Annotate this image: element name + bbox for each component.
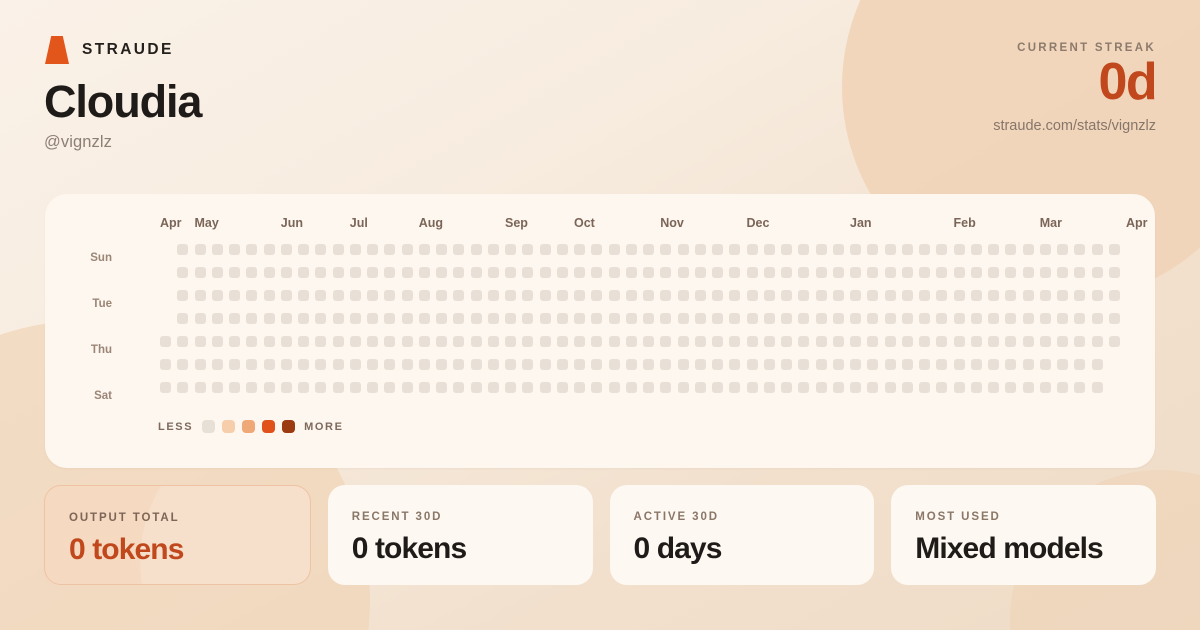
- heatmap-cell[interactable]: [419, 359, 430, 370]
- heatmap-cell[interactable]: [229, 359, 240, 370]
- heatmap-cell[interactable]: [954, 313, 965, 324]
- heatmap-cell[interactable]: [781, 290, 792, 301]
- heatmap-cell[interactable]: [574, 359, 585, 370]
- heatmap-cell[interactable]: [264, 336, 275, 347]
- heatmap-cell[interactable]: [781, 336, 792, 347]
- heatmap-cell[interactable]: [867, 382, 878, 393]
- heatmap-cell[interactable]: [402, 336, 413, 347]
- heatmap-cell[interactable]: [988, 244, 999, 255]
- heatmap-cell[interactable]: [712, 313, 723, 324]
- heatmap-cell[interactable]: [315, 267, 326, 278]
- heatmap-cell[interactable]: [436, 336, 447, 347]
- heatmap-cell[interactable]: [954, 336, 965, 347]
- heatmap-cell[interactable]: [678, 244, 689, 255]
- heatmap-cell[interactable]: [591, 244, 602, 255]
- heatmap-cell[interactable]: [471, 359, 482, 370]
- heatmap-cell[interactable]: [798, 267, 809, 278]
- heatmap-cell[interactable]: [954, 267, 965, 278]
- heatmap-cell[interactable]: [626, 313, 637, 324]
- heatmap-cell[interactable]: [626, 382, 637, 393]
- heatmap-cell[interactable]: [315, 382, 326, 393]
- heatmap-cell[interactable]: [1074, 382, 1085, 393]
- heatmap-cell[interactable]: [712, 359, 723, 370]
- heatmap-cell[interactable]: [609, 290, 620, 301]
- heatmap-cell[interactable]: [833, 382, 844, 393]
- heatmap-cell[interactable]: [729, 313, 740, 324]
- heatmap-cell[interactable]: [298, 267, 309, 278]
- heatmap-cell[interactable]: [798, 313, 809, 324]
- heatmap-cell[interactable]: [557, 244, 568, 255]
- heatmap-cell[interactable]: [936, 359, 947, 370]
- heatmap-cell[interactable]: [315, 359, 326, 370]
- heatmap-cell[interactable]: [954, 290, 965, 301]
- heatmap-cell[interactable]: [1109, 336, 1120, 347]
- heatmap-cell[interactable]: [488, 313, 499, 324]
- heatmap-cell[interactable]: [591, 313, 602, 324]
- heatmap-cell[interactable]: [229, 313, 240, 324]
- heatmap-cell[interactable]: [229, 382, 240, 393]
- heatmap-cell[interactable]: [246, 313, 257, 324]
- heatmap-cell[interactable]: [678, 336, 689, 347]
- heatmap-cell[interactable]: [1074, 313, 1085, 324]
- heatmap-cell[interactable]: [212, 336, 223, 347]
- heatmap-cell[interactable]: [177, 336, 188, 347]
- heatmap-cell[interactable]: [246, 290, 257, 301]
- heatmap-cell[interactable]: [315, 313, 326, 324]
- heatmap-cell[interactable]: [643, 290, 654, 301]
- heatmap-cell[interactable]: [643, 244, 654, 255]
- heatmap-cell[interactable]: [522, 290, 533, 301]
- heatmap-cell[interactable]: [781, 244, 792, 255]
- heatmap-cell[interactable]: [471, 244, 482, 255]
- heatmap-cell[interactable]: [419, 313, 430, 324]
- heatmap-cell[interactable]: [816, 336, 827, 347]
- heatmap-cell[interactable]: [367, 267, 378, 278]
- heatmap-cell[interactable]: [988, 336, 999, 347]
- heatmap-cell[interactable]: [557, 313, 568, 324]
- heatmap-cell[interactable]: [298, 359, 309, 370]
- heatmap-cell[interactable]: [436, 267, 447, 278]
- heatmap-cell[interactable]: [885, 267, 896, 278]
- heatmap-cell[interactable]: [315, 244, 326, 255]
- heatmap-cell[interactable]: [816, 244, 827, 255]
- heatmap-cell[interactable]: [522, 267, 533, 278]
- heatmap-cell[interactable]: [695, 267, 706, 278]
- heatmap-cell[interactable]: [936, 313, 947, 324]
- heatmap-cell[interactable]: [1057, 313, 1068, 324]
- heatmap-cell[interactable]: [591, 336, 602, 347]
- heatmap-cell[interactable]: [1023, 267, 1034, 278]
- heatmap-cell[interactable]: [1109, 267, 1120, 278]
- heatmap-cell[interactable]: [626, 244, 637, 255]
- heatmap-cell[interactable]: [971, 382, 982, 393]
- heatmap-cell[interactable]: [1040, 313, 1051, 324]
- heatmap-cell[interactable]: [557, 267, 568, 278]
- heatmap-cell[interactable]: [695, 313, 706, 324]
- heatmap-cell[interactable]: [298, 290, 309, 301]
- heatmap-cell[interactable]: [781, 313, 792, 324]
- heatmap-cell[interactable]: [419, 244, 430, 255]
- heatmap-cell[interactable]: [177, 244, 188, 255]
- heatmap-cell[interactable]: [867, 336, 878, 347]
- heatmap-cell[interactable]: [281, 336, 292, 347]
- heatmap-cell[interactable]: [764, 313, 775, 324]
- heatmap-cell[interactable]: [402, 267, 413, 278]
- heatmap-cell[interactable]: [1057, 267, 1068, 278]
- heatmap-cell[interactable]: [264, 359, 275, 370]
- heatmap-cell[interactable]: [919, 359, 930, 370]
- heatmap-cell[interactable]: [505, 359, 516, 370]
- heatmap-cell[interactable]: [505, 313, 516, 324]
- heatmap-cell[interactable]: [764, 382, 775, 393]
- heatmap-cell[interactable]: [419, 382, 430, 393]
- heatmap-cell[interactable]: [712, 336, 723, 347]
- heatmap-cell[interactable]: [436, 313, 447, 324]
- heatmap-cell[interactable]: [729, 359, 740, 370]
- heatmap-cell[interactable]: [522, 382, 533, 393]
- heatmap-cell[interactable]: [281, 267, 292, 278]
- heatmap-cell[interactable]: [816, 382, 827, 393]
- heatmap-cell[interactable]: [453, 336, 464, 347]
- heatmap-cell[interactable]: [1092, 359, 1103, 370]
- heatmap-cell[interactable]: [971, 359, 982, 370]
- heatmap-cell[interactable]: [1057, 290, 1068, 301]
- heatmap-cell[interactable]: [1040, 244, 1051, 255]
- heatmap-cell[interactable]: [850, 290, 861, 301]
- heatmap-cell[interactable]: [384, 382, 395, 393]
- heatmap-cell[interactable]: [1092, 382, 1103, 393]
- heatmap-cell[interactable]: [643, 313, 654, 324]
- heatmap-cell[interactable]: [264, 290, 275, 301]
- heatmap-cell[interactable]: [1005, 382, 1016, 393]
- heatmap-cell[interactable]: [384, 290, 395, 301]
- heatmap-cell[interactable]: [867, 244, 878, 255]
- heatmap-cell[interactable]: [1074, 267, 1085, 278]
- heatmap-cell[interactable]: [419, 336, 430, 347]
- heatmap-cell[interactable]: [402, 244, 413, 255]
- heatmap-cell[interactable]: [574, 290, 585, 301]
- heatmap-cell[interactable]: [591, 382, 602, 393]
- heatmap-cell[interactable]: [1023, 313, 1034, 324]
- heatmap-cell[interactable]: [902, 313, 913, 324]
- heatmap-cell[interactable]: [246, 382, 257, 393]
- heatmap-cell[interactable]: [419, 290, 430, 301]
- heatmap-cell[interactable]: [505, 382, 516, 393]
- heatmap-cell[interactable]: [333, 313, 344, 324]
- heatmap-cell[interactable]: [609, 359, 620, 370]
- heatmap-cell[interactable]: [609, 244, 620, 255]
- heatmap-cell[interactable]: [660, 382, 671, 393]
- heatmap-cell[interactable]: [1005, 267, 1016, 278]
- heatmap-cell[interactable]: [1074, 244, 1085, 255]
- heatmap-cell[interactable]: [867, 267, 878, 278]
- heatmap-cell[interactable]: [902, 382, 913, 393]
- heatmap-cell[interactable]: [246, 267, 257, 278]
- heatmap-cell[interactable]: [850, 382, 861, 393]
- heatmap-cell[interactable]: [988, 267, 999, 278]
- heatmap-cell[interactable]: [471, 313, 482, 324]
- heatmap-cell[interactable]: [988, 313, 999, 324]
- heatmap-cell[interactable]: [798, 359, 809, 370]
- heatmap-cell[interactable]: [229, 290, 240, 301]
- heatmap-cell[interactable]: [264, 382, 275, 393]
- heatmap-cell[interactable]: [902, 267, 913, 278]
- heatmap-cell[interactable]: [1074, 359, 1085, 370]
- heatmap-cell[interactable]: [453, 382, 464, 393]
- heatmap-cell[interactable]: [798, 290, 809, 301]
- heatmap-cell[interactable]: [609, 313, 620, 324]
- heatmap-cell[interactable]: [1109, 290, 1120, 301]
- heatmap-cell[interactable]: [678, 290, 689, 301]
- heatmap-cell[interactable]: [384, 244, 395, 255]
- heatmap-cell[interactable]: [764, 336, 775, 347]
- heatmap-cell[interactable]: [1040, 359, 1051, 370]
- heatmap-cell[interactable]: [419, 267, 430, 278]
- heatmap-cell[interactable]: [436, 382, 447, 393]
- heatmap-cell[interactable]: [402, 290, 413, 301]
- heatmap-cell[interactable]: [540, 336, 551, 347]
- heatmap-cell[interactable]: [471, 336, 482, 347]
- heatmap-cell[interactable]: [281, 382, 292, 393]
- heatmap-cell[interactable]: [264, 267, 275, 278]
- heatmap-cell[interactable]: [1023, 382, 1034, 393]
- heatmap-cell[interactable]: [988, 359, 999, 370]
- heatmap-cell[interactable]: [505, 244, 516, 255]
- heatmap-cell[interactable]: [367, 290, 378, 301]
- heatmap-cell[interactable]: [919, 336, 930, 347]
- heatmap-cell[interactable]: [885, 382, 896, 393]
- heatmap-cell[interactable]: [626, 290, 637, 301]
- heatmap-cell[interactable]: [350, 267, 361, 278]
- heatmap-cell[interactable]: [850, 313, 861, 324]
- heatmap-cell[interactable]: [919, 267, 930, 278]
- heatmap-cell[interactable]: [988, 290, 999, 301]
- heatmap-cell[interactable]: [574, 267, 585, 278]
- heatmap-cell[interactable]: [919, 382, 930, 393]
- heatmap-cell[interactable]: [695, 290, 706, 301]
- heatmap-cell[interactable]: [885, 244, 896, 255]
- heatmap-cell[interactable]: [384, 267, 395, 278]
- heatmap-cell[interactable]: [333, 267, 344, 278]
- heatmap-cell[interactable]: [540, 290, 551, 301]
- heatmap-cell[interactable]: [453, 290, 464, 301]
- heatmap-cell[interactable]: [350, 359, 361, 370]
- heatmap-cell[interactable]: [350, 336, 361, 347]
- heatmap-cell[interactable]: [1074, 290, 1085, 301]
- heatmap-cell[interactable]: [315, 336, 326, 347]
- heatmap-cell[interactable]: [1109, 313, 1120, 324]
- heatmap-cell[interactable]: [1005, 359, 1016, 370]
- heatmap-cell[interactable]: [453, 313, 464, 324]
- heatmap-cell[interactable]: [798, 382, 809, 393]
- heatmap-cell[interactable]: [1074, 336, 1085, 347]
- heatmap-cell[interactable]: [833, 359, 844, 370]
- heatmap-cell[interactable]: [1057, 244, 1068, 255]
- heatmap-cell[interactable]: [160, 336, 171, 347]
- heatmap-cell[interactable]: [402, 382, 413, 393]
- heatmap-cell[interactable]: [626, 267, 637, 278]
- heatmap-cell[interactable]: [195, 244, 206, 255]
- heatmap-cell[interactable]: [488, 267, 499, 278]
- heatmap-cell[interactable]: [177, 382, 188, 393]
- heatmap-cell[interactable]: [885, 359, 896, 370]
- heatmap-cell[interactable]: [522, 313, 533, 324]
- heatmap-cell[interactable]: [384, 359, 395, 370]
- heatmap-cell[interactable]: [747, 290, 758, 301]
- heatmap-cell[interactable]: [695, 359, 706, 370]
- heatmap-cell[interactable]: [816, 313, 827, 324]
- heatmap-cell[interactable]: [195, 336, 206, 347]
- heatmap-cell[interactable]: [936, 336, 947, 347]
- heatmap-cell[interactable]: [747, 336, 758, 347]
- heatmap-cell[interactable]: [678, 382, 689, 393]
- heatmap-cell[interactable]: [712, 267, 723, 278]
- heatmap-cell[interactable]: [229, 336, 240, 347]
- heatmap-cell[interactable]: [1005, 290, 1016, 301]
- heatmap-cell[interactable]: [1092, 336, 1103, 347]
- heatmap-cell[interactable]: [488, 336, 499, 347]
- heatmap-cell[interactable]: [350, 313, 361, 324]
- heatmap-cell[interactable]: [1040, 290, 1051, 301]
- heatmap-cell[interactable]: [229, 267, 240, 278]
- heatmap-cell[interactable]: [1092, 244, 1103, 255]
- heatmap-cell[interactable]: [591, 267, 602, 278]
- heatmap-cell[interactable]: [436, 290, 447, 301]
- heatmap-cell[interactable]: [574, 244, 585, 255]
- heatmap-cell[interactable]: [333, 244, 344, 255]
- heatmap-cell[interactable]: [764, 267, 775, 278]
- heatmap-cell[interactable]: [591, 290, 602, 301]
- heatmap-cell[interactable]: [367, 382, 378, 393]
- heatmap-cell[interactable]: [1057, 382, 1068, 393]
- heatmap-cell[interactable]: [764, 359, 775, 370]
- heatmap-cell[interactable]: [1023, 244, 1034, 255]
- heatmap-cell[interactable]: [695, 382, 706, 393]
- heatmap-cell[interactable]: [747, 267, 758, 278]
- heatmap-cell[interactable]: [1040, 267, 1051, 278]
- heatmap-cell[interactable]: [850, 244, 861, 255]
- heatmap-cell[interactable]: [712, 382, 723, 393]
- heatmap-cell[interactable]: [1109, 244, 1120, 255]
- heatmap-cell[interactable]: [195, 267, 206, 278]
- heatmap-cell[interactable]: [540, 244, 551, 255]
- heatmap-cell[interactable]: [695, 336, 706, 347]
- heatmap-cell[interactable]: [1023, 290, 1034, 301]
- heatmap-cell[interactable]: [522, 336, 533, 347]
- heatmap-cell[interactable]: [1023, 359, 1034, 370]
- heatmap-cell[interactable]: [609, 336, 620, 347]
- heatmap-cell[interactable]: [264, 313, 275, 324]
- heatmap-cell[interactable]: [919, 244, 930, 255]
- heatmap-cell[interactable]: [1092, 267, 1103, 278]
- heatmap-cell[interactable]: [177, 313, 188, 324]
- heatmap-cell[interactable]: [971, 336, 982, 347]
- heatmap-cell[interactable]: [212, 313, 223, 324]
- heatmap-cell[interactable]: [333, 382, 344, 393]
- heatmap-cell[interactable]: [626, 336, 637, 347]
- heatmap-cell[interactable]: [643, 359, 654, 370]
- heatmap-cell[interactable]: [246, 244, 257, 255]
- heatmap-cell[interactable]: [919, 313, 930, 324]
- heatmap-cell[interactable]: [574, 336, 585, 347]
- heatmap-cell[interactable]: [505, 267, 516, 278]
- heatmap-cell[interactable]: [1023, 336, 1034, 347]
- heatmap-cell[interactable]: [367, 244, 378, 255]
- heatmap-cell[interactable]: [609, 382, 620, 393]
- heatmap-cell[interactable]: [281, 313, 292, 324]
- heatmap-cell[interactable]: [436, 359, 447, 370]
- heatmap-cell[interactable]: [281, 244, 292, 255]
- heatmap-cell[interactable]: [471, 382, 482, 393]
- heatmap-cell[interactable]: [885, 336, 896, 347]
- heatmap-cell[interactable]: [902, 290, 913, 301]
- heatmap-cell[interactable]: [384, 336, 395, 347]
- heatmap-cell[interactable]: [1092, 313, 1103, 324]
- heatmap-cell[interactable]: [1040, 382, 1051, 393]
- heatmap-cell[interactable]: [971, 290, 982, 301]
- heatmap-cell[interactable]: [333, 359, 344, 370]
- heatmap-cell[interactable]: [540, 267, 551, 278]
- heatmap-cell[interactable]: [626, 359, 637, 370]
- heatmap-cell[interactable]: [936, 244, 947, 255]
- heatmap-cell[interactable]: [954, 359, 965, 370]
- heatmap-cell[interactable]: [402, 359, 413, 370]
- heatmap-cell[interactable]: [281, 359, 292, 370]
- heatmap-cell[interactable]: [557, 382, 568, 393]
- heatmap-cell[interactable]: [195, 359, 206, 370]
- heatmap-cell[interactable]: [540, 313, 551, 324]
- heatmap-cell[interactable]: [540, 382, 551, 393]
- heatmap-cell[interactable]: [660, 313, 671, 324]
- heatmap-cell[interactable]: [850, 336, 861, 347]
- heatmap-cell[interactable]: [505, 290, 516, 301]
- heatmap-cell[interactable]: [367, 359, 378, 370]
- heatmap-cell[interactable]: [885, 290, 896, 301]
- heatmap-cell[interactable]: [453, 359, 464, 370]
- heatmap-cell[interactable]: [729, 267, 740, 278]
- heatmap-cell[interactable]: [160, 359, 171, 370]
- heatmap-cell[interactable]: [160, 382, 171, 393]
- heatmap-cell[interactable]: [936, 382, 947, 393]
- heatmap-cell[interactable]: [488, 382, 499, 393]
- heatmap-cell[interactable]: [177, 290, 188, 301]
- heatmap-cell[interactable]: [471, 267, 482, 278]
- heatmap-cell[interactable]: [195, 382, 206, 393]
- heatmap-cell[interactable]: [919, 290, 930, 301]
- heatmap-cell[interactable]: [264, 244, 275, 255]
- heatmap-cell[interactable]: [712, 290, 723, 301]
- heatmap-cell[interactable]: [643, 267, 654, 278]
- heatmap-cell[interactable]: [936, 267, 947, 278]
- heatmap-cell[interactable]: [833, 267, 844, 278]
- heatmap-cell[interactable]: [936, 290, 947, 301]
- heatmap-cell[interactable]: [557, 359, 568, 370]
- heatmap-cell[interactable]: [229, 244, 240, 255]
- heatmap-cell[interactable]: [885, 313, 896, 324]
- heatmap-cell[interactable]: [729, 382, 740, 393]
- heatmap-cell[interactable]: [488, 244, 499, 255]
- heatmap-cell[interactable]: [298, 313, 309, 324]
- heatmap-cell[interactable]: [954, 244, 965, 255]
- heatmap-cell[interactable]: [471, 290, 482, 301]
- heatmap-cell[interactable]: [350, 382, 361, 393]
- heatmap-cell[interactable]: [315, 290, 326, 301]
- heatmap-cell[interactable]: [522, 244, 533, 255]
- heatmap-cell[interactable]: [643, 382, 654, 393]
- heatmap-cell[interactable]: [781, 382, 792, 393]
- heatmap-cell[interactable]: [609, 267, 620, 278]
- heatmap-cell[interactable]: [350, 290, 361, 301]
